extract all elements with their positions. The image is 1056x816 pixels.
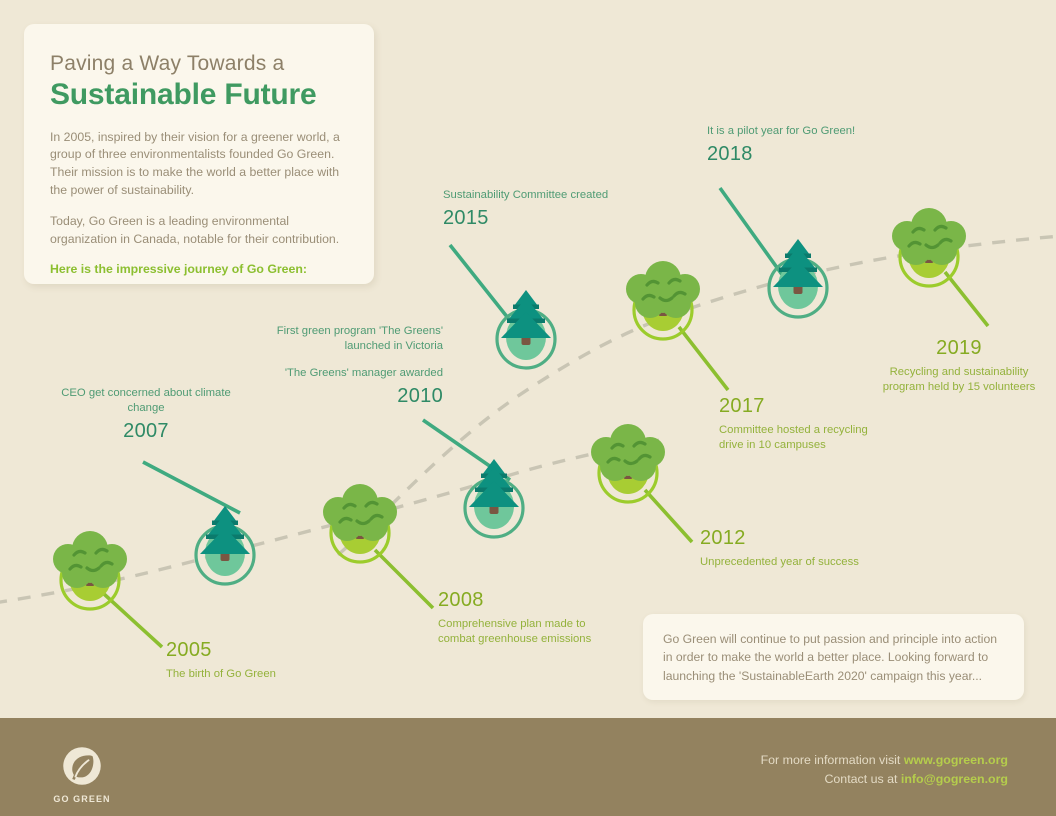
timeline-node-2012[interactable] — [591, 424, 665, 502]
timeline-desc-2017: Committee hosted a recycling drive in 10… — [719, 423, 869, 453]
timeline-node-2005[interactable] — [53, 531, 127, 609]
timeline-desc-2010: First green program 'The Greens' launche… — [268, 324, 443, 354]
timeline-year-2005: 2005 — [166, 638, 336, 663]
intro-paragraph-2: Today, Go Green is a leading environment… — [50, 213, 348, 249]
timeline-label-2017[interactable]: 2017 Committee hosted a recycling drive … — [719, 394, 869, 453]
timeline-label-2005[interactable]: 2005 The birth of Go Green — [166, 638, 336, 682]
timeline-desc-2007: CEO get concerned about climate change — [56, 386, 236, 416]
timeline-node-2019[interactable] — [892, 208, 966, 286]
footer-line-1-prefix: For more information visit — [761, 753, 904, 767]
outro-text: Go Green will continue to put passion an… — [663, 630, 1004, 685]
timeline-label-2012[interactable]: 2012 Unprecedented year of success — [700, 526, 870, 570]
timeline-year-2015: 2015 — [443, 206, 613, 231]
leaf-icon — [60, 744, 104, 788]
timeline-desc-2012: Unprecedented year of success — [700, 555, 870, 570]
timeline-desc-2019: Recycling and sustainability program hel… — [879, 365, 1039, 395]
timeline-year-2017: 2017 — [719, 394, 869, 419]
timeline-label-2018[interactable]: It is a pilot year for Go Green! 2018 — [707, 124, 867, 167]
connector-2019 — [945, 272, 988, 326]
intro-paragraph-1: In 2005, inspired by their vision for a … — [50, 129, 348, 200]
timeline-node-2018[interactable] — [769, 239, 827, 317]
timeline-desc-2015: Sustainability Committee created — [443, 188, 613, 203]
timeline-node-2015[interactable] — [497, 290, 555, 368]
footer: GO GREEN For more information visit www.… — [0, 718, 1056, 816]
footer-line-2-prefix: Contact us at — [824, 772, 900, 786]
intro-kicker: Paving a Way Towards a — [50, 52, 348, 76]
timeline-node-2008[interactable] — [323, 484, 397, 562]
timeline-year-2018: 2018 — [707, 142, 867, 167]
timeline-label-2019[interactable]: 2019 Recycling and sustainability progra… — [879, 336, 1039, 395]
connector-2018 — [720, 188, 783, 276]
connector-2007 — [143, 462, 240, 513]
timeline-desc-2008: Comprehensive plan made to combat greenh… — [438, 617, 618, 647]
timeline-year-2008: 2008 — [438, 588, 618, 613]
timeline-label-2015[interactable]: Sustainability Committee created 2015 — [443, 188, 613, 231]
email-link[interactable]: info@gogreen.org — [901, 772, 1008, 786]
timeline-node-2017[interactable] — [626, 261, 700, 339]
timeline-label-2008[interactable]: 2008 Comprehensive plan made to combat g… — [438, 588, 618, 647]
logo-text: GO GREEN — [47, 794, 117, 804]
timeline-node-2007[interactable] — [196, 506, 254, 584]
timeline-year-2019: 2019 — [879, 336, 1039, 361]
footer-line-1: For more information visit www.gogreen.o… — [761, 751, 1008, 770]
connector-2015 — [450, 245, 512, 323]
logo[interactable]: GO GREEN — [47, 744, 117, 804]
timeline-desc2-2010: 'The Greens' manager awarded — [268, 366, 443, 381]
timeline-year-2012: 2012 — [700, 526, 870, 551]
timeline-year-2010: 2010 — [268, 384, 443, 409]
timeline-desc-2018: It is a pilot year for Go Green! — [707, 124, 867, 139]
timeline-node-2010[interactable] — [465, 459, 523, 537]
footer-line-2: Contact us at info@gogreen.org — [761, 770, 1008, 789]
intro-card: Paving a Way Towards a Sustainable Futur… — [24, 24, 374, 284]
outro-card: Go Green will continue to put passion an… — [643, 614, 1024, 700]
infographic-canvas: Paving a Way Towards a Sustainable Futur… — [0, 0, 1056, 816]
page-title: Sustainable Future — [50, 78, 348, 113]
timeline-label-2010[interactable]: First green program 'The Greens' launche… — [268, 324, 443, 409]
intro-cta: Here is the impressive journey of Go Gre… — [50, 262, 348, 276]
connector-2008 — [375, 550, 433, 608]
timeline-desc-2005: The birth of Go Green — [166, 667, 336, 682]
timeline-label-2007[interactable]: CEO get concerned about climate change 2… — [56, 386, 236, 444]
footer-contact: For more information visit www.gogreen.o… — [761, 751, 1008, 788]
connector-2005 — [104, 594, 162, 647]
connector-2012 — [645, 490, 692, 542]
connector-2017 — [679, 327, 728, 390]
timeline-year-2007: 2007 — [56, 419, 236, 444]
website-link[interactable]: www.gogreen.org — [904, 753, 1008, 767]
